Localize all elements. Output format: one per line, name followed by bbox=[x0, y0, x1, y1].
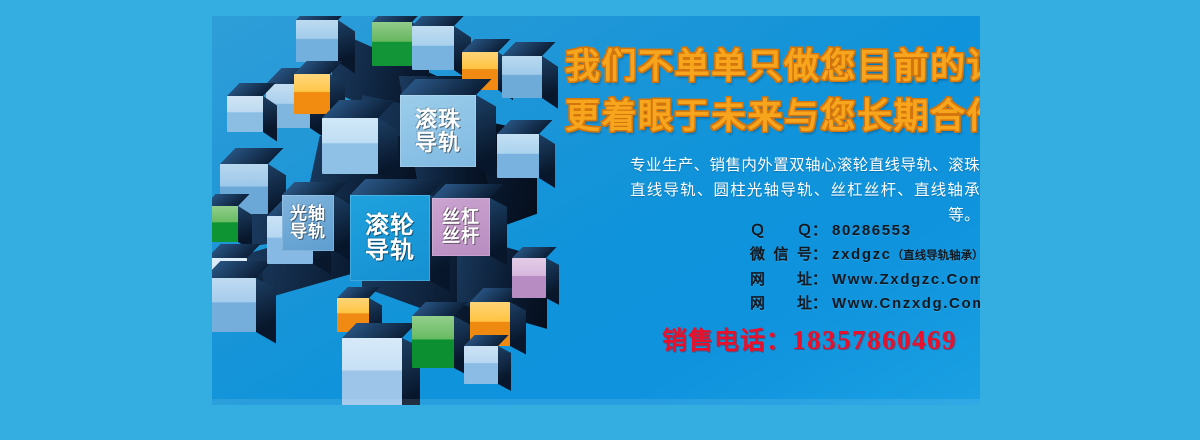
product-label-lead-screw: 丝杠 丝杆 bbox=[432, 198, 490, 256]
contact-label: 微信号 bbox=[750, 243, 812, 267]
banner-panel: 滚珠 导轨 光轴 导轨 滚轮 导轨 bbox=[212, 16, 980, 405]
contact-value-qq[interactable]: 80286553 bbox=[832, 219, 912, 243]
product-label-line2: 导轨 bbox=[290, 223, 326, 241]
product-label-line2: 丝杆 bbox=[442, 227, 480, 246]
cube-top bbox=[350, 179, 445, 195]
contact-value-wechat[interactable]: zxdgzc bbox=[832, 243, 892, 267]
banner-stage: 滚珠 导轨 光轴 导轨 滚轮 导轨 bbox=[0, 0, 1200, 440]
product-label-line1: 光轴 bbox=[290, 205, 326, 223]
contact-colon: ： bbox=[812, 219, 827, 243]
contact-label: Ｑ Ｑ bbox=[750, 219, 812, 243]
product-cube-optical-shaft-rail[interactable]: 光轴 导轨 bbox=[282, 195, 334, 251]
contact-colon: ： bbox=[812, 243, 827, 267]
company-description: 专业生产、销售内外置双轴心滚轮直线导轨、滚珠直线导轨、圆柱光轴导轨、丝杠丝杆、直… bbox=[630, 153, 980, 228]
product-label-line2: 导轨 bbox=[415, 131, 461, 154]
decor-cube bbox=[227, 96, 263, 132]
cube-top bbox=[400, 79, 491, 95]
decor-cube bbox=[212, 278, 256, 332]
product-label-line1: 丝杠 bbox=[442, 208, 480, 227]
sales-phone-label: 销售电话： bbox=[662, 327, 792, 355]
product-cube-ball-rail[interactable]: 滚珠 导轨 bbox=[400, 95, 476, 167]
decor-cube-green bbox=[372, 22, 412, 66]
contact-row-wechat: 微信号 ： zxdgzc （直线导轨轴承） bbox=[750, 243, 980, 267]
contact-value-website-1[interactable]: Www.Zxdgzc.Com bbox=[832, 268, 980, 292]
headline-line-1: 我们不单单只做您目前的订单 bbox=[565, 42, 980, 92]
decor-cube bbox=[497, 134, 539, 178]
product-cube-lead-screw[interactable]: 丝杠 丝杆 bbox=[432, 198, 490, 256]
contact-label: 网 址 bbox=[750, 268, 812, 292]
product-label-line2: 导轨 bbox=[365, 238, 415, 263]
cube-side bbox=[476, 95, 496, 179]
product-label-roller-rail: 滚轮 导轨 bbox=[350, 195, 430, 281]
sales-phone[interactable]: 销售电话：18357860469 bbox=[662, 321, 980, 357]
decor-cube bbox=[502, 56, 542, 98]
decor-cube bbox=[464, 346, 498, 384]
headline: 我们不单单只做您目前的订单 更着眼于未来与您长期合作 bbox=[565, 42, 980, 141]
decor-cube bbox=[342, 338, 402, 405]
contact-row-website-2: 网 址 ： Www.Cnzxdg.Com bbox=[750, 292, 980, 316]
product-label-ball-rail: 滚珠 导轨 bbox=[400, 95, 476, 167]
cube-side bbox=[334, 195, 350, 260]
contact-note-wechat: （直线导轨轴承） bbox=[892, 247, 980, 266]
contact-row-qq: Ｑ Ｑ ： 80286553 bbox=[750, 219, 980, 243]
product-label-optical-shaft-rail: 光轴 导轨 bbox=[282, 195, 334, 251]
product-label-line1: 滚珠 bbox=[415, 108, 461, 131]
decor-cube bbox=[322, 118, 378, 174]
contact-label: 网 址 bbox=[750, 292, 812, 316]
sales-phone-number[interactable]: 18357860469 bbox=[792, 325, 957, 355]
decor-cube bbox=[296, 20, 338, 62]
contact-block: Ｑ Ｑ ： 80286553 微信号 ： zxdgzc （直线导轨轴承） 网 址… bbox=[750, 219, 980, 317]
decor-cube bbox=[412, 26, 454, 70]
contact-colon: ： bbox=[812, 292, 827, 316]
decor-cube-green bbox=[412, 316, 454, 368]
cube-side bbox=[490, 198, 507, 265]
headline-line-2: 更着眼于未来与您长期合作 bbox=[565, 92, 980, 142]
contact-row-website-1: 网 址 ： Www.Zxdgzc.Com bbox=[750, 268, 980, 292]
decor-cube-orange bbox=[294, 74, 330, 114]
contact-value-website-2[interactable]: Www.Cnzxdg.Com bbox=[832, 292, 980, 316]
product-label-line1: 滚轮 bbox=[365, 213, 415, 238]
cube-cluster-graphic: 滚珠 导轨 光轴 导轨 滚轮 导轨 bbox=[212, 16, 542, 405]
decor-cube bbox=[512, 258, 546, 298]
product-cube-roller-rail[interactable]: 滚轮 导轨 bbox=[350, 195, 430, 281]
contact-colon: ： bbox=[812, 268, 827, 292]
decor-cube-green bbox=[212, 206, 238, 242]
